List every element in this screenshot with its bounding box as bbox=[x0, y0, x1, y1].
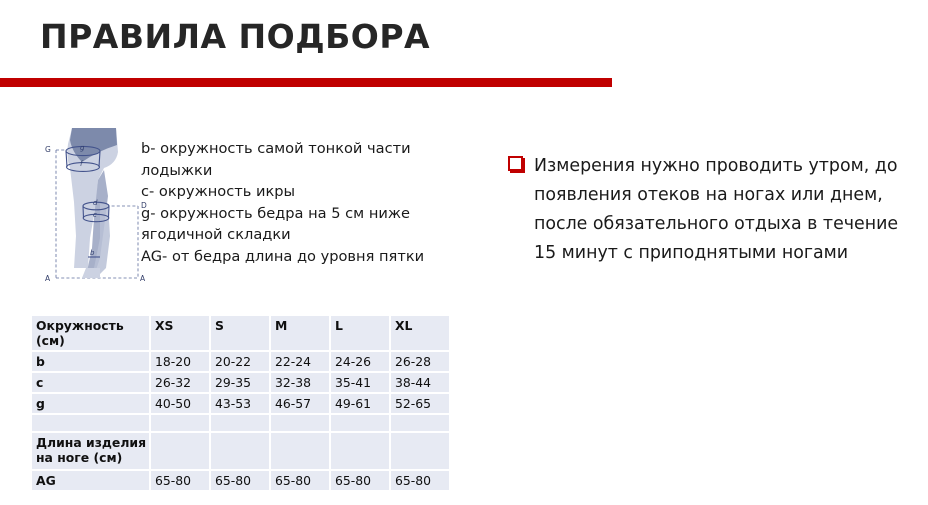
cell-ag-xs: 65-80 bbox=[150, 470, 210, 490]
row-label-c: c bbox=[32, 372, 150, 393]
cell-ag-s: 65-80 bbox=[210, 470, 270, 490]
measurement-note: Измерения нужно проводить утром, до появ… bbox=[508, 152, 908, 268]
cell-ag-m: 65-80 bbox=[270, 470, 330, 490]
svg-text:c: c bbox=[93, 211, 97, 219]
red-square-bullet-icon bbox=[508, 156, 523, 171]
cell-ag-xl: 65-80 bbox=[390, 470, 449, 490]
svg-text:d: d bbox=[93, 199, 98, 207]
spacer-cell-xl bbox=[390, 414, 449, 432]
slide-canvas: ПРАВИЛА ПОДБОРА bbox=[0, 0, 928, 505]
table-header-cell-xs: XS bbox=[150, 316, 210, 351]
cell-length-xl bbox=[390, 432, 449, 470]
legend-line-b: b- окружность самой тонкой части лодыжки bbox=[141, 138, 441, 181]
cell-c-s: 29-35 bbox=[210, 372, 270, 393]
cell-length-s bbox=[210, 432, 270, 470]
table-header-cell-0: Окружность (см) bbox=[32, 316, 150, 351]
cell-g-m: 46-57 bbox=[270, 393, 330, 414]
legend-line-g: g- окружность бедра на 5 см ниже ягодичн… bbox=[141, 203, 441, 246]
cell-length-xs bbox=[150, 432, 210, 470]
table-spacer-row bbox=[32, 414, 449, 432]
svg-text:A: A bbox=[45, 274, 51, 283]
cell-c-xl: 38-44 bbox=[390, 372, 449, 393]
table-row: b 18-20 20-22 22-24 24-26 26-28 bbox=[32, 351, 449, 372]
table-header-cell-l: L bbox=[330, 316, 390, 351]
cell-c-xs: 26-32 bbox=[150, 372, 210, 393]
cell-c-l: 35-41 bbox=[330, 372, 390, 393]
row-label-length: Длина изделия на ноге (см) bbox=[32, 432, 150, 470]
row-label-ag: AG bbox=[32, 470, 150, 490]
table-header-cell-m: M bbox=[270, 316, 330, 351]
cell-b-xs: 18-20 bbox=[150, 351, 210, 372]
table-header-row: Окружность (см) XS S M L XL bbox=[32, 316, 449, 351]
cell-length-l bbox=[330, 432, 390, 470]
page-title: ПРАВИЛА ПОДБОРА bbox=[40, 17, 430, 56]
measurement-legend: b- окружность самой тонкой части лодыжки… bbox=[141, 138, 441, 267]
cell-b-m: 22-24 bbox=[270, 351, 330, 372]
legend-line-c: c- окружность икры bbox=[141, 181, 441, 203]
table-row: AG 65-80 65-80 65-80 65-80 65-80 bbox=[32, 470, 449, 490]
cell-b-s: 20-22 bbox=[210, 351, 270, 372]
title-underline-bar bbox=[0, 78, 612, 87]
spacer-cell-0 bbox=[32, 414, 150, 432]
table-row: Длина изделия на ноге (см) bbox=[32, 432, 449, 470]
measurement-note-text: Измерения нужно проводить утром, до появ… bbox=[508, 152, 908, 268]
cell-b-xl: 26-28 bbox=[390, 351, 449, 372]
svg-text:g: g bbox=[80, 144, 85, 152]
cell-length-m bbox=[270, 432, 330, 470]
table-row: g 40-50 43-53 46-57 49-61 52-65 bbox=[32, 393, 449, 414]
cell-c-m: 32-38 bbox=[270, 372, 330, 393]
cell-g-l: 49-61 bbox=[330, 393, 390, 414]
table-header-cell-xl: XL bbox=[390, 316, 449, 351]
spacer-cell-s bbox=[210, 414, 270, 432]
leg-measurement-diagram: g f d c b G D A A bbox=[42, 118, 150, 290]
row-label-g: g bbox=[32, 393, 150, 414]
spacer-cell-xs bbox=[150, 414, 210, 432]
spacer-cell-l bbox=[330, 414, 390, 432]
cell-ag-l: 65-80 bbox=[330, 470, 390, 490]
cell-g-xs: 40-50 bbox=[150, 393, 210, 414]
cell-b-l: 24-26 bbox=[330, 351, 390, 372]
cell-g-s: 43-53 bbox=[210, 393, 270, 414]
table-row: c 26-32 29-35 32-38 35-41 38-44 bbox=[32, 372, 449, 393]
svg-text:G: G bbox=[45, 145, 51, 154]
svg-text:b: b bbox=[90, 249, 95, 257]
spacer-cell-m bbox=[270, 414, 330, 432]
size-chart-table: Окружность (см) XS S M L XL b 18-20 20-2… bbox=[32, 316, 449, 490]
table-header-cell-s: S bbox=[210, 316, 270, 351]
svg-text:A: A bbox=[140, 274, 146, 283]
cell-g-xl: 52-65 bbox=[390, 393, 449, 414]
legend-line-ag: AG- от бедра длина до уровня пятки bbox=[141, 246, 441, 268]
row-label-b: b bbox=[32, 351, 150, 372]
